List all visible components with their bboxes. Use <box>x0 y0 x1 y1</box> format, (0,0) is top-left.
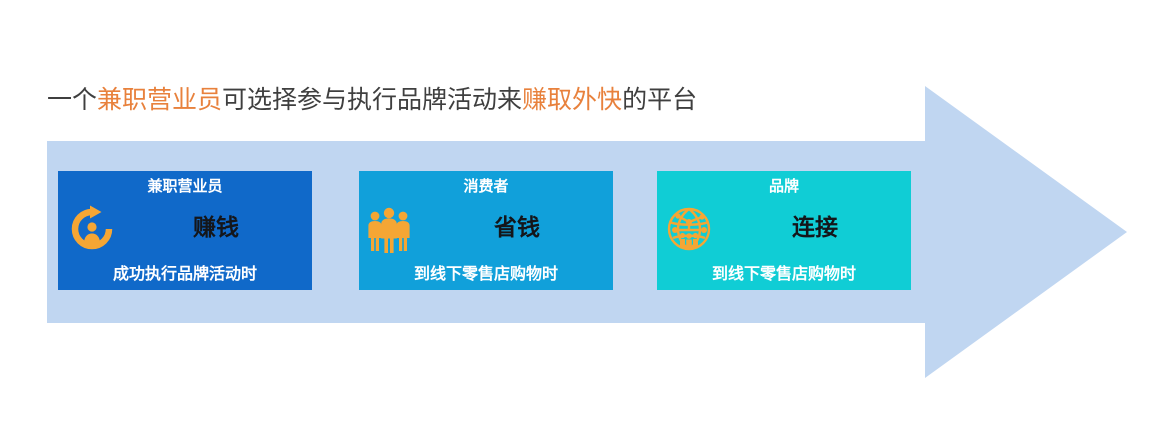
three-people-group-icon <box>363 205 415 257</box>
condition-label: 到线下零售店购物时 <box>359 264 613 286</box>
benefit-label: 省钱 <box>421 213 613 243</box>
role-label: 品牌 <box>657 177 911 197</box>
title-segment-3-highlight: 赚取外快 <box>522 87 622 114</box>
benefit-label: 赚钱 <box>120 213 312 243</box>
role-label: 兼职营业员 <box>58 177 312 197</box>
condition-label: 成功执行品牌活动时 <box>58 264 312 286</box>
title-segment-1-highlight: 兼职营业员 <box>97 87 222 114</box>
globe-network-people-icon <box>663 203 715 255</box>
role-card-part-time-clerk[interactable]: 兼职营业员 赚钱 成功执行品牌活动时 <box>58 171 312 290</box>
condition-label: 到线下零售店购物时 <box>657 264 911 286</box>
role-cards-row: 兼职营业员 赚钱 成功执行品牌活动时 消费者 <box>58 171 908 290</box>
page-title: 一个兼职营业员可选择参与执行品牌活动来赚取外快的平台 <box>47 84 697 118</box>
role-label: 消费者 <box>359 177 613 197</box>
title-segment-2: 可选择参与执行品牌活动来 <box>222 87 522 114</box>
role-card-brand[interactable]: 品牌 <box>657 171 911 290</box>
role-card-consumer[interactable]: 消费者 省钱 到线下零售店购物时 <box>359 171 613 290</box>
benefit-label: 连接 <box>719 213 911 243</box>
title-segment-0: 一个 <box>47 87 97 114</box>
person-circular-arrow-icon <box>66 203 118 255</box>
title-segment-4: 的平台 <box>622 87 697 114</box>
diagram-canvas: 一个兼职营业员可选择参与执行品牌活动来赚取外快的平台 兼职营业员 赚钱 成功执行… <box>0 0 1150 430</box>
